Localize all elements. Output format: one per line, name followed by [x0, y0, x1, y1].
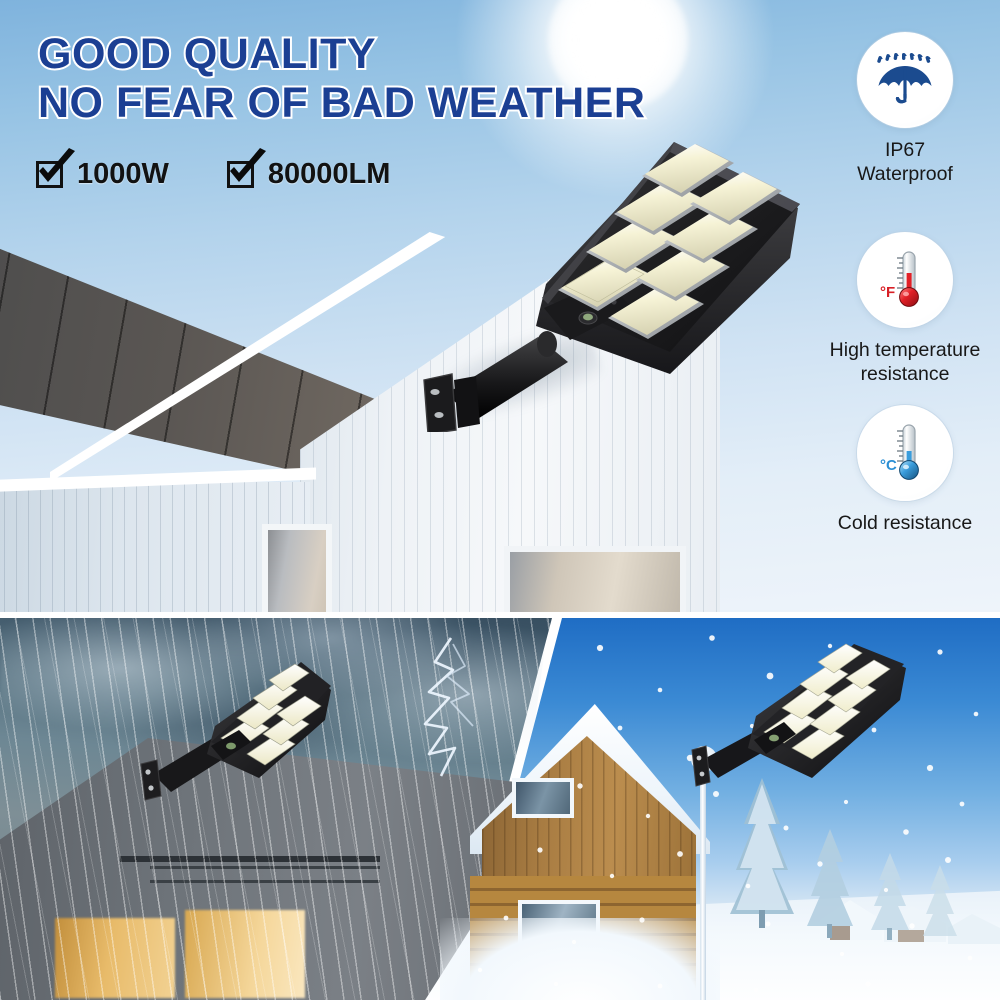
lightning-bolt-icon [395, 636, 515, 786]
umbrella-rain-icon [872, 47, 938, 113]
headline-line-1: GOOD QUALITY [38, 30, 645, 79]
doorway-frame [262, 524, 332, 612]
feature-label-line-2: resistance [820, 363, 990, 387]
bottom-scenes [0, 618, 1000, 1000]
spec-list: 1000W 80000LM [36, 158, 390, 191]
hero-sunny-scene: GOOD QUALITY NO FEAR OF BAD WEATHER 1000… [0, 0, 1000, 612]
feature-icon-circle: °C [857, 405, 953, 501]
spec-item-lumens: 80000LM [227, 158, 391, 191]
product-banner: GOOD QUALITY NO FEAR OF BAD WEATHER 1000… [0, 0, 1000, 1000]
thermometer-cold-icon: °C [870, 418, 940, 488]
checkbox-checked-icon [36, 161, 63, 188]
checkbox-checked-icon [227, 161, 254, 188]
feature-label-line-1: Cold resistance [820, 512, 990, 536]
feature-label-line-1: IP67 [820, 139, 990, 163]
spec-item-wattage: 1000W [36, 158, 169, 191]
unit-label-celsius: °C [880, 457, 897, 474]
solar-street-light-product [418, 112, 818, 432]
feature-label-waterproof: IP67 Waterproof [820, 139, 990, 187]
mounting-arm [424, 331, 568, 432]
headline-line-2: NO FEAR OF BAD WEATHER [38, 79, 645, 128]
spec-label-wattage: 1000W [77, 158, 169, 191]
feature-icon-circle [857, 32, 953, 128]
thermometer-hot-icon: °F [870, 245, 940, 315]
feature-label-line-2: Waterproof [820, 163, 990, 187]
solar-street-light-wall-mounted [135, 650, 335, 810]
unit-label-fahrenheit: °F [880, 284, 895, 301]
feature-high-temperature: °F High temperature resistance [820, 232, 990, 387]
spec-label-lumens: 80000LM [268, 158, 391, 191]
feature-label-line-1: High temperature [820, 339, 990, 363]
headline-block: GOOD QUALITY NO FEAR OF BAD WEATHER [38, 30, 645, 129]
feature-cold-resistance: °C Cold resistance [820, 405, 990, 536]
panel-divider-horizontal [0, 612, 1000, 618]
feature-label-cold-resistance: Cold resistance [820, 512, 990, 536]
feature-waterproof: IP67 Waterproof [820, 32, 990, 187]
solar-street-light-pole-mounted [690, 636, 920, 816]
window-frame [504, 546, 686, 612]
feature-icon-circle: °F [857, 232, 953, 328]
feature-label-high-temperature: High temperature resistance [820, 339, 990, 387]
